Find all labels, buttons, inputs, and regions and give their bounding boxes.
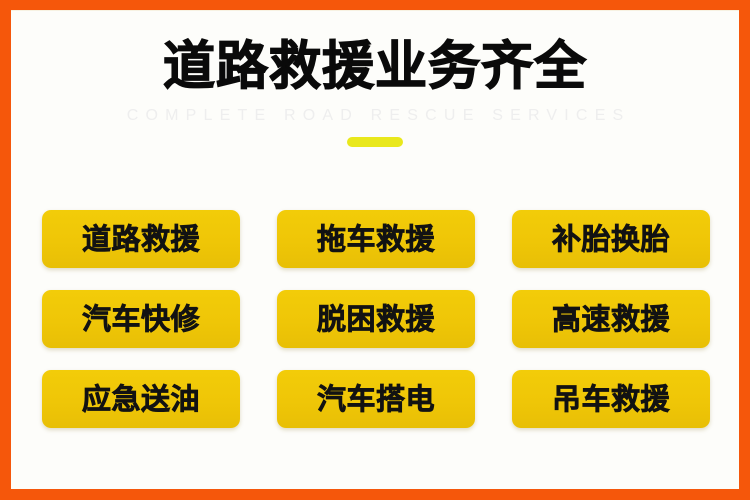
service-button-label: 高速救援: [552, 302, 670, 336]
service-button-quick-car-repair[interactable]: 汽车快修: [42, 290, 240, 348]
service-button-tow-rescue[interactable]: 拖车救援: [277, 210, 475, 268]
service-button-label: 汽车搭电: [317, 382, 435, 416]
service-button-road-rescue[interactable]: 道路救援: [42, 210, 240, 268]
service-button-highway-rescue[interactable]: 高速救援: [512, 290, 710, 348]
service-button-label: 汽车快修: [82, 302, 200, 336]
service-button-label: 应急送油: [82, 382, 200, 416]
page-title: 道路救援业务齐全: [11, 37, 739, 97]
service-button-tire-repair-change[interactable]: 补胎换胎: [512, 210, 710, 268]
service-button-label: 道路救援: [82, 222, 200, 256]
service-button-extrication-rescue[interactable]: 脱困救援: [277, 290, 475, 348]
service-button-crane-rescue[interactable]: 吊车救援: [512, 370, 710, 428]
service-button-grid: 道路救援 拖车救援 补胎换胎 汽车快修 脱困救援 高速救援 应急送油 汽车搭电: [42, 210, 708, 428]
service-button-label: 脱困救援: [317, 302, 435, 336]
poster-frame: 道路救援业务齐全 COMPLETE ROAD RESCUE SERVICES 道…: [0, 0, 750, 500]
accent-divider: [347, 137, 403, 147]
poster-canvas: 道路救援业务齐全 COMPLETE ROAD RESCUE SERVICES 道…: [11, 10, 739, 489]
service-button-emergency-fuel-delivery[interactable]: 应急送油: [42, 370, 240, 428]
service-button-label: 拖车救援: [317, 222, 435, 256]
service-button-label: 补胎换胎: [552, 222, 670, 256]
page-subtitle: COMPLETE ROAD RESCUE SERVICES: [11, 106, 739, 126]
poster-header: 道路救援业务齐全 COMPLETE ROAD RESCUE SERVICES: [11, 37, 739, 147]
service-button-jump-start[interactable]: 汽车搭电: [277, 370, 475, 428]
service-button-label: 吊车救援: [552, 382, 670, 416]
